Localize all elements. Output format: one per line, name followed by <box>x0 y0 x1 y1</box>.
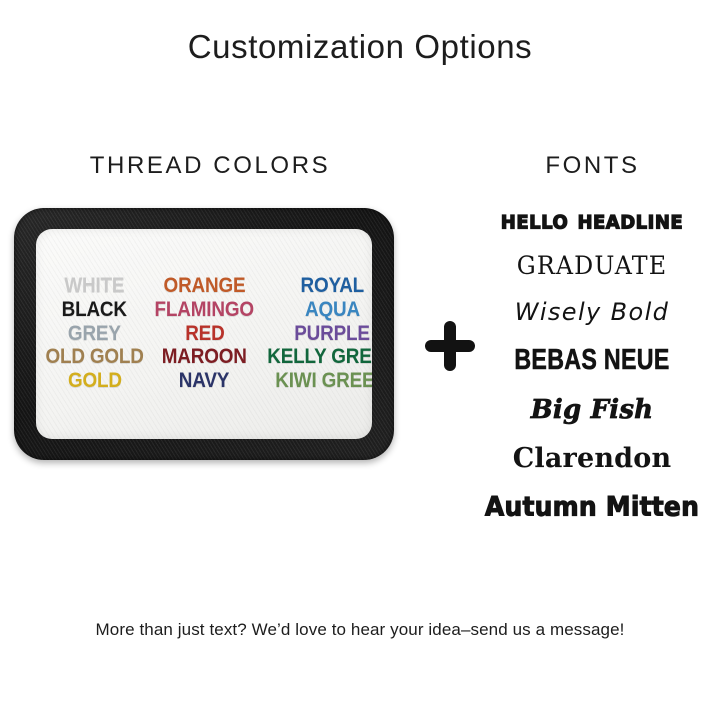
font-sample-wisely-bold: Wisely Bold <box>466 288 718 335</box>
font-sample-hello-headline: Hello Headline <box>466 195 718 243</box>
color-swatch-label: AQUA <box>305 299 360 322</box>
color-swatch-label: NAVY <box>179 370 229 393</box>
font-sample-bebas-neue: BEBAS NEUE <box>491 335 693 385</box>
page-title: Customization Options <box>0 28 720 66</box>
color-swatch-label: MAROON <box>162 346 247 369</box>
color-column: ORANGEFLAMINGOREDMAROONNAVY <box>149 275 259 392</box>
color-swatch-label: WHITE <box>65 275 125 298</box>
color-swatch-label: GREY <box>68 323 121 346</box>
color-column: ROYALAQUAPURPLEKELLY GREENKIWI GREEN <box>260 275 372 392</box>
color-swatch-label: OLD GOLD <box>45 346 143 369</box>
plus-icon-vertical-bar <box>444 321 456 371</box>
thread-color-patch: WHITEBLACKGREYOLD GOLDGOLDORANGEFLAMINGO… <box>14 208 394 460</box>
color-swatch-label: KIWI GREEN <box>276 370 372 393</box>
color-swatch-label: BLACK <box>62 299 127 322</box>
fonts-heading: FONTS <box>470 152 715 180</box>
thread-colors-heading: THREAD COLORS <box>10 152 410 180</box>
patch-face: WHITEBLACKGREYOLD GOLDGOLDORANGEFLAMINGO… <box>36 229 372 439</box>
color-swatch-label: GOLD <box>68 370 122 393</box>
color-swatch-label: FLAMINGO <box>155 299 254 322</box>
font-sample-clarendon: Clarendon <box>466 434 718 482</box>
font-sample-graduate: GRADUATE <box>472 242 711 288</box>
color-swatch-label: PURPLE <box>294 323 370 346</box>
customization-options-page: Customization Options THREAD COLORS FONT… <box>0 0 720 720</box>
color-swatch-label: RED <box>185 323 224 346</box>
font-sample-big-fish: Big Fish <box>466 385 718 434</box>
font-sample-autumn-mitten: Autumn Mitten <box>466 481 718 531</box>
patch-border: WHITEBLACKGREYOLD GOLDGOLDORANGEFLAMINGO… <box>14 208 394 460</box>
color-swatch-label: ORANGE <box>163 275 245 298</box>
footer-note: More than just text? We’d love to hear y… <box>0 620 720 640</box>
color-swatch-label: ROYAL <box>300 275 364 298</box>
color-swatch-label: KELLY GREEN <box>267 346 372 369</box>
font-samples-list: Hello HeadlineGRADUATEWisely BoldBEBAS N… <box>466 196 718 529</box>
color-swatch-columns: WHITEBLACKGREYOLD GOLDGOLDORANGEFLAMINGO… <box>36 229 372 439</box>
color-column: WHITEBLACKGREYOLD GOLDGOLD <box>40 275 149 392</box>
